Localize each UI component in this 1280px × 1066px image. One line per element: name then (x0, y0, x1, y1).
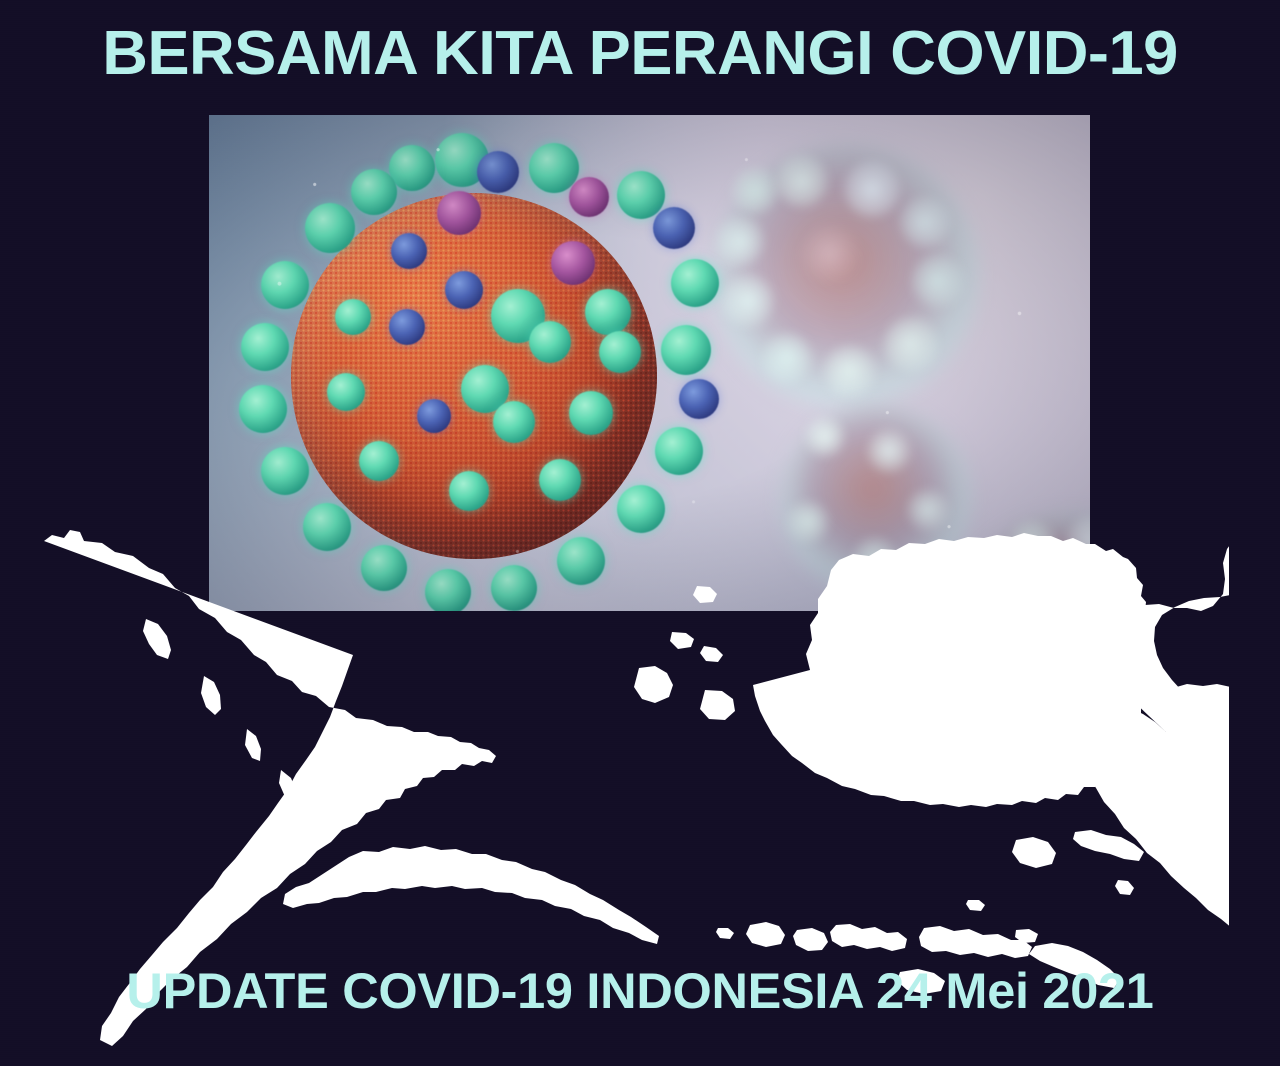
island-belitung (700, 690, 735, 720)
island-sumbawa (830, 924, 907, 951)
island-papua-birdshead (1038, 706, 1130, 763)
island-siberut (201, 676, 221, 715)
islet-riau-1 (670, 632, 694, 649)
island-buru (1012, 837, 1056, 868)
islet-aru (1115, 880, 1134, 895)
island-bangka (634, 666, 673, 703)
photo-dust-particles (209, 115, 1090, 611)
islet-maluku-1 (1001, 660, 1020, 673)
islet-riau-2 (700, 646, 723, 662)
islet-alor (1015, 929, 1038, 943)
page-caption: UPDATE COVID-19 INDONESIA 24 Mei 2021 (0, 962, 1280, 1020)
poster-canvas: BERSAMA KITA PERANGI COVID-19 UPDATE COV… (0, 0, 1280, 1066)
islet-maluku-2 (1019, 690, 1036, 703)
islet-sula (1055, 759, 1104, 776)
islet-sunda-1 (716, 928, 734, 939)
island-papua (1077, 684, 1243, 935)
island-seram (1073, 830, 1144, 861)
island-jawa (283, 846, 659, 944)
island-flores (919, 926, 1032, 958)
coronavirus-photo (209, 115, 1090, 611)
island-lombok (793, 928, 828, 951)
island-sipura (245, 729, 261, 761)
islet-sunda-2 (966, 900, 985, 911)
island-enggano (434, 850, 457, 868)
island-nias (143, 619, 171, 659)
island-halmahera (1030, 610, 1103, 677)
island-bali (746, 922, 785, 947)
island-pagai (279, 770, 297, 804)
page-title: BERSAMA KITA PERANGI COVID-19 (0, 18, 1280, 90)
